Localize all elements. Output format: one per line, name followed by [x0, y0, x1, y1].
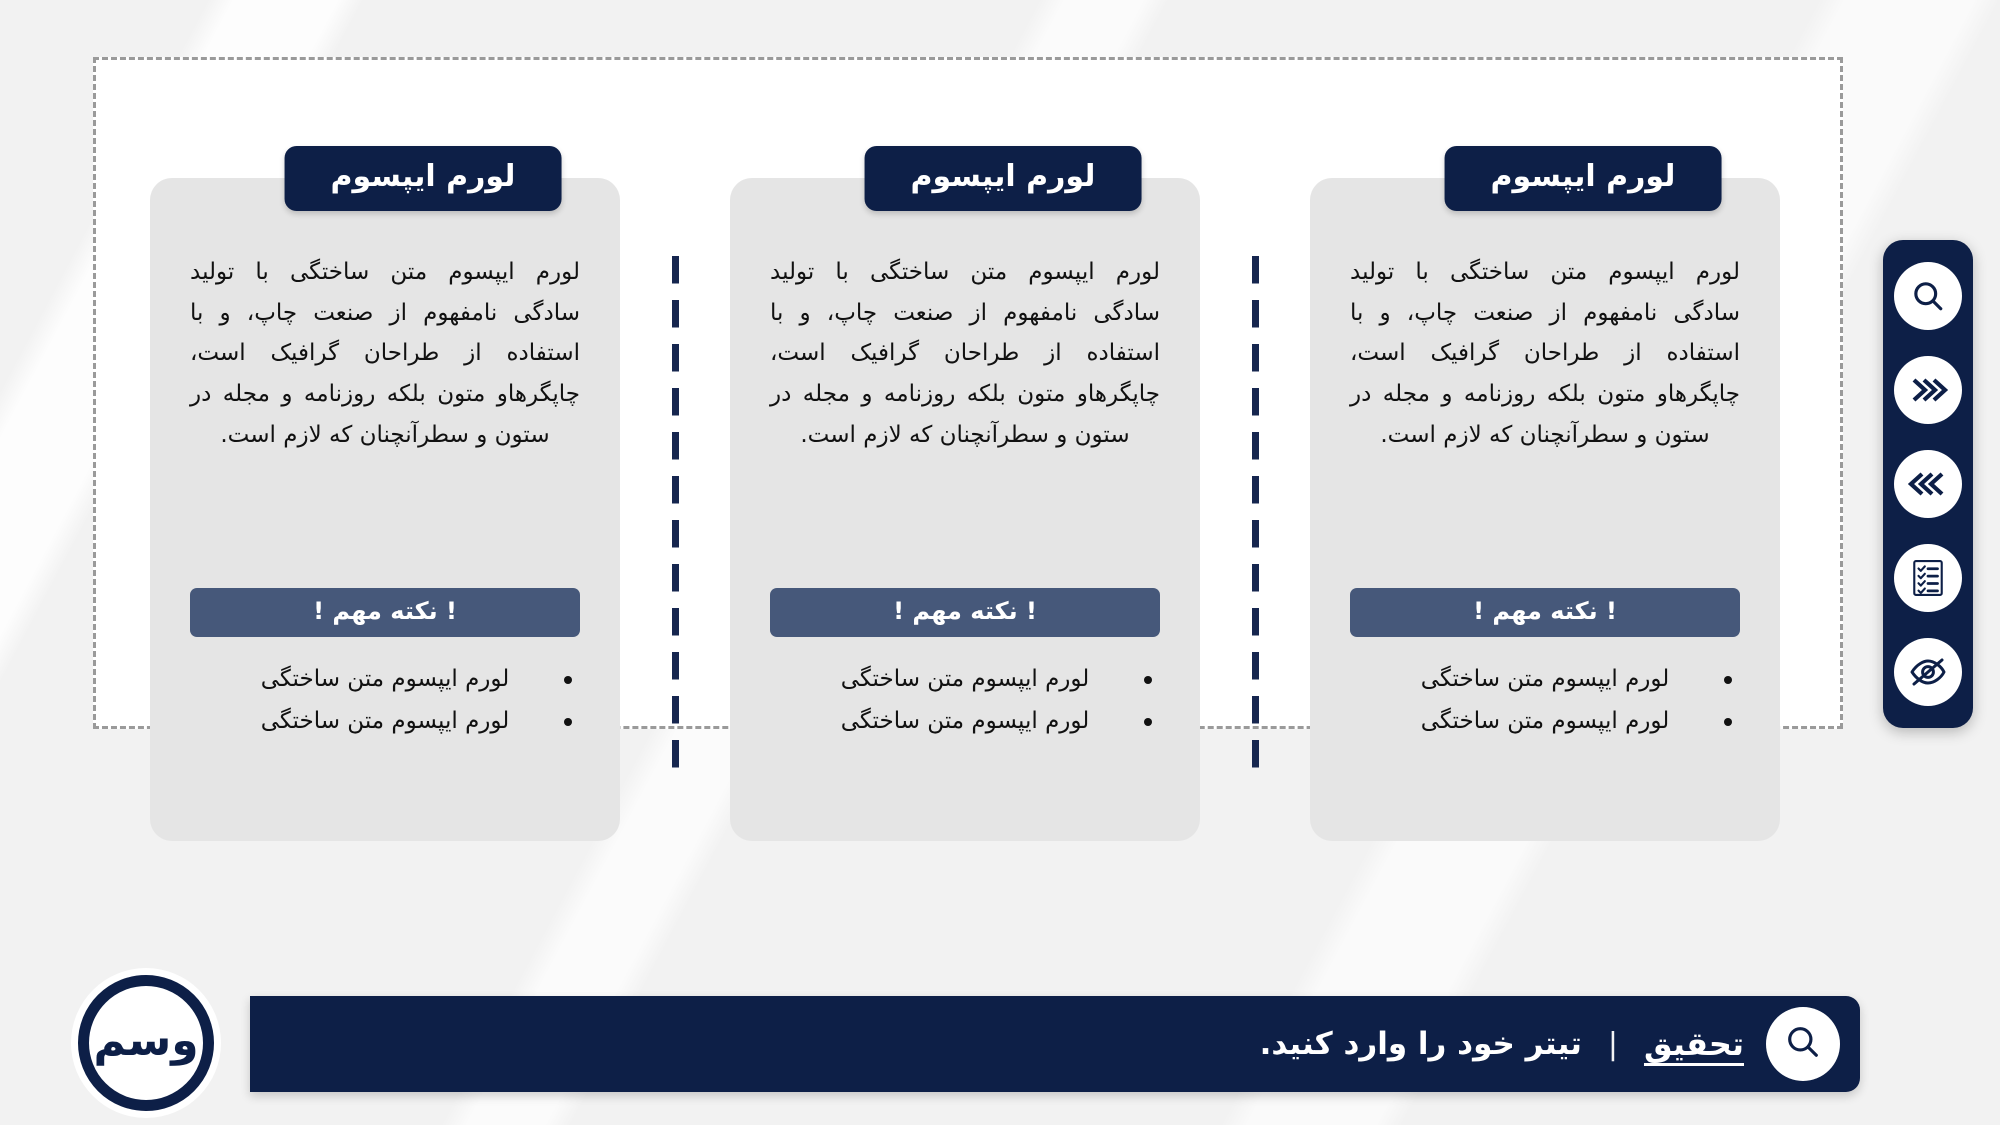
card-body-text: لورم ایپسوم متن ساختگی با تولید سادگی نا…: [770, 252, 1160, 542]
list-item: لورم ایپسوم متن ساختگی: [190, 701, 580, 743]
toolbar-next-button[interactable]: [1894, 356, 1962, 424]
card-slot-3: لورم ایپسوم لورم ایپسوم متن ساختگی با تو…: [1310, 178, 1780, 841]
bottom-bar-separator: |: [1608, 1027, 1618, 1062]
bottom-bar-link[interactable]: تحقیق: [1644, 1025, 1744, 1063]
bullet-icon: [1724, 676, 1732, 684]
note-list: لورم ایپسوم متن ساختگی لورم ایپسوم متن س…: [190, 659, 580, 743]
list-item: لورم ایپسوم متن ساختگی: [770, 659, 1160, 701]
bullet-icon: [564, 718, 572, 726]
bullet-icon: [1144, 718, 1152, 726]
list-item: لورم ایپسوم متن ساختگی: [1350, 659, 1740, 701]
list-item-label: لورم ایپسوم متن ساختگی: [261, 666, 510, 692]
card-grid: لورم ایپسوم لورم ایپسوم متن ساختگی با تو…: [150, 178, 1790, 850]
card-divider-1: [620, 256, 730, 776]
list-item-label: لورم ایپسوم متن ساختگی: [1421, 666, 1670, 692]
bottom-bar: تحقیق | تیتر خود را وارد کنید.: [250, 996, 1860, 1092]
list-item-label: لورم ایپسوم متن ساختگی: [1421, 708, 1670, 734]
chevrons-left-icon: [1908, 468, 1948, 500]
bullet-icon: [564, 676, 572, 684]
search-icon: [1784, 1023, 1822, 1065]
card-divider-2: [1200, 256, 1310, 776]
note-list: لورم ایپسوم متن ساختگی لورم ایپسوم متن س…: [770, 659, 1160, 743]
eye-off-icon: [1908, 655, 1948, 689]
info-card[interactable]: لورم ایپسوم لورم ایپسوم متن ساختگی با تو…: [730, 178, 1200, 841]
important-note-banner: ! نکته مهم !: [770, 588, 1160, 637]
logo-text: وسم: [93, 1019, 198, 1063]
card-slot-2: لورم ایپسوم لورم ایپسوم متن ساختگی با تو…: [730, 178, 1200, 841]
card-title-badge: لورم ایپسوم: [1445, 146, 1722, 211]
bottom-search-button[interactable]: [1766, 1007, 1840, 1081]
toolbar-search-button[interactable]: [1894, 262, 1962, 330]
list-item: لورم ایپسوم متن ساختگی: [1350, 701, 1740, 743]
toolbar-checklist-button[interactable]: [1894, 544, 1962, 612]
toolbar-hide-button[interactable]: [1894, 638, 1962, 706]
chevrons-right-icon: [1908, 374, 1948, 406]
card-title-badge: لورم ایپسوم: [285, 146, 562, 211]
bullet-icon: [1724, 718, 1732, 726]
list-item: لورم ایپسوم متن ساختگی: [190, 659, 580, 701]
list-item-label: لورم ایپسوم متن ساختگی: [261, 708, 510, 734]
checklist-icon: [1911, 559, 1945, 597]
floating-toolbar: [1883, 240, 1973, 728]
important-note-banner: ! نکته مهم !: [190, 588, 580, 637]
info-card[interactable]: لورم ایپسوم لورم ایپسوم متن ساختگی با تو…: [1310, 178, 1780, 841]
bullet-icon: [1144, 676, 1152, 684]
logo-badge[interactable]: وسم: [78, 975, 214, 1111]
toolbar-prev-button[interactable]: [1894, 450, 1962, 518]
list-item-label: لورم ایپسوم متن ساختگی: [841, 666, 1090, 692]
card-title-badge: لورم ایپسوم: [865, 146, 1142, 211]
card-slot-1: لورم ایپسوم لورم ایپسوم متن ساختگی با تو…: [150, 178, 620, 841]
card-body-text: لورم ایپسوم متن ساختگی با تولید سادگی نا…: [1350, 252, 1740, 542]
list-item: لورم ایپسوم متن ساختگی: [770, 701, 1160, 743]
list-item-label: لورم ایپسوم متن ساختگی: [841, 708, 1090, 734]
card-body-text: لورم ایپسوم متن ساختگی با تولید سادگی نا…: [190, 252, 580, 542]
bottom-bar-title: تیتر خود را وارد کنید.: [1260, 1026, 1582, 1062]
note-list: لورم ایپسوم متن ساختگی لورم ایپسوم متن س…: [1350, 659, 1740, 743]
info-card[interactable]: لورم ایپسوم لورم ایپسوم متن ساختگی با تو…: [150, 178, 620, 841]
search-icon: [1910, 278, 1946, 314]
important-note-banner: ! نکته مهم !: [1350, 588, 1740, 637]
